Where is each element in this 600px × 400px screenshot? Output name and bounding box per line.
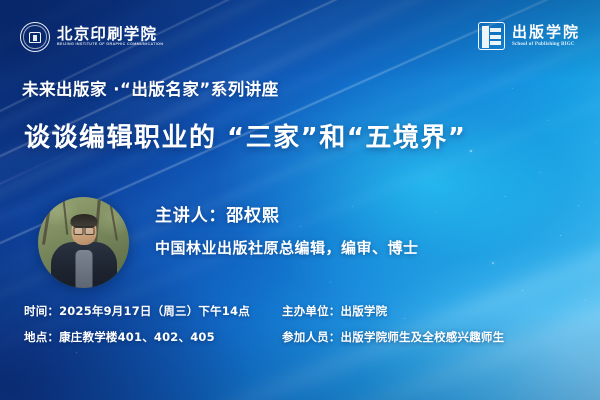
avatar	[38, 197, 129, 288]
page-title: 谈谈编辑职业的 “三家”和“五境界”	[24, 125, 466, 151]
school-of-publishing-mark-icon	[478, 22, 505, 50]
speaker-name: 主讲人：邵权熙	[155, 208, 280, 225]
speaker-title: 中国林业出版社原总编辑，编审、博士	[155, 241, 419, 256]
event-details: 时间：2025年9月17日（周三）下午14点 主办单位：出版学院 地点：康庄教学…	[24, 306, 580, 343]
lecture-poster: 北京印刷学院 BEIJING INSTITUTE OF GRAPHIC COMM…	[0, 0, 600, 400]
school-of-publishing-logo: 出版学院 School of Publishing BIGC	[478, 22, 580, 50]
series-kicker: 未来出版家 ·“出版名家”系列讲座	[22, 82, 279, 99]
bigc-logo: 北京印刷学院 BEIJING INSTITUTE OF GRAPHIC COMM…	[20, 22, 161, 52]
school-logo-cn: 出版学院	[512, 25, 580, 40]
event-time: 时间：2025年9月17日（周三）下午14点	[24, 306, 282, 318]
bigc-logo-cn: 北京印刷学院	[57, 27, 161, 43]
event-attendees: 参加人员：出版学院师生及全校感兴趣师生	[282, 332, 580, 344]
event-organizer: 主办单位：出版学院	[282, 306, 580, 318]
school-logo-en: School of Publishing BIGC	[512, 42, 580, 47]
event-location: 地点：康庄教学楼401、402、405	[24, 332, 282, 344]
bigc-logo-en: BEIJING INSTITUTE OF GRAPHIC COMMUNICATI…	[57, 43, 163, 47]
bigc-seal-icon	[20, 22, 50, 52]
